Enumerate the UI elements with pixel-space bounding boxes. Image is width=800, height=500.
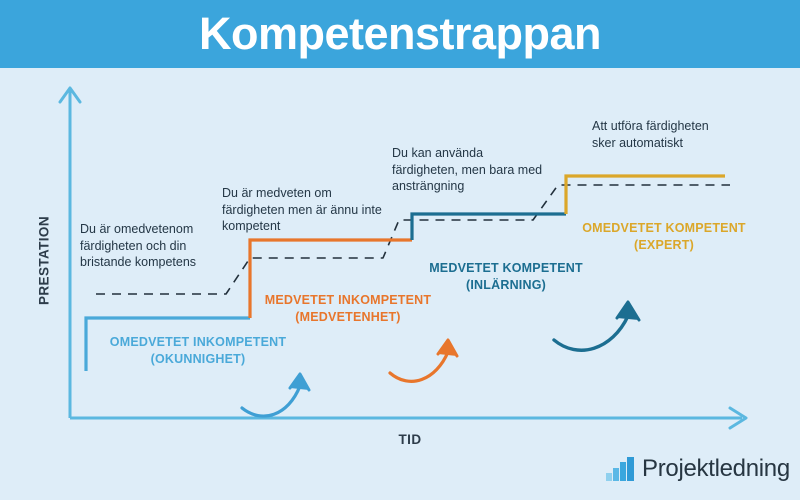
brand-name: Projektledning — [642, 455, 790, 483]
note-medvetet-inkompetent: Du är medveten om färdigheten men är änn… — [222, 185, 382, 235]
stage-1-subtitle: (OKUNNIGHET) — [151, 352, 246, 366]
note-medvetet-kompetent: Du kan använda färdigheten, men bara med… — [392, 145, 547, 195]
stage-2-title: MEDVETET INKOMPETENT — [265, 293, 432, 307]
y-axis-label: PRESTATION — [37, 201, 52, 321]
stage-label-medvetet-kompetent[interactable]: MEDVETET KOMPETENT (INLÄRNING) — [412, 260, 600, 294]
arrow-stage-3-to-4-icon — [554, 302, 639, 350]
header-band: Kompetenstrappan — [0, 0, 800, 68]
stage-4-subtitle: (EXPERT) — [634, 238, 694, 252]
arrow-stage-1-to-2-icon — [242, 374, 309, 416]
chart-area: PRESTATION TID Du är omedvetenom färdigh… — [0, 68, 800, 500]
footer-brand[interactable]: Projektledning — [606, 455, 790, 483]
stage-2-subtitle: (MEDVETENHET) — [295, 310, 400, 324]
x-axis-label: TID — [360, 432, 460, 447]
note-omedvetet-inkompetent: Du är omedvetenom färdigheten och din br… — [80, 221, 225, 271]
stage-4-title: OMEDVETET KOMPETENT — [582, 221, 746, 235]
stage-3-subtitle: (INLÄRNING) — [466, 278, 546, 292]
x-axis — [70, 408, 746, 428]
step-3-medvetet-kompetent[interactable] — [412, 214, 566, 240]
y-axis — [60, 88, 80, 418]
bar-chart-logo-icon — [606, 457, 636, 481]
step-4-omedvetet-kompetent[interactable] — [566, 176, 725, 214]
infographic-root: Kompetenstrappan — [0, 0, 800, 500]
stage-3-title: MEDVETET KOMPETENT — [429, 261, 583, 275]
page-title: Kompetenstrappan — [199, 11, 601, 56]
arrow-stage-2-to-3-icon — [390, 340, 457, 381]
stage-label-omedvetet-inkompetent[interactable]: OMEDVETET INKOMPETENT (OKUNNIGHET) — [95, 334, 301, 368]
note-omedvetet-kompetent: Att utföra färdigheten sker automatiskt — [592, 118, 712, 151]
stage-label-medvetet-inkompetent[interactable]: MEDVETET INKOMPETENT (MEDVETENHET) — [250, 292, 446, 326]
stage-1-title: OMEDVETET INKOMPETENT — [110, 335, 286, 349]
stage-label-omedvetet-kompetent[interactable]: OMEDVETET KOMPETENT (EXPERT) — [568, 220, 760, 254]
